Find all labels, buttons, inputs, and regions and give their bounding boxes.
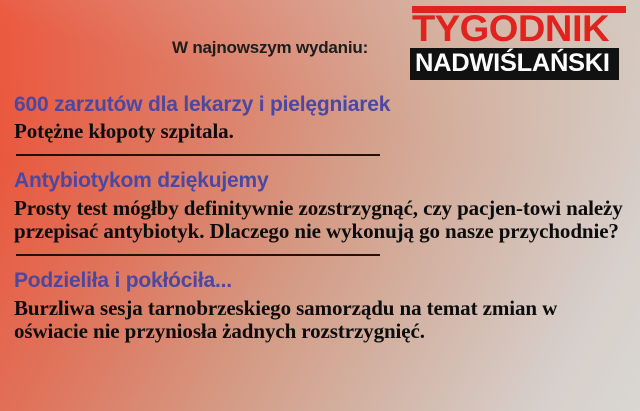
article-teaser-list: 600 zarzutów dla lekarzy i pielęgniarek … <box>14 92 630 343</box>
article-lead: Burzliwa sesja tarnobrzeskiego samorządu… <box>14 297 630 343</box>
logo-title-tygodnik: TYGODNIK <box>412 12 634 46</box>
article-lead: Prosty test mógłby definitywnie zozstrzy… <box>14 197 630 243</box>
issue-kicker-text: W najnowszym wydaniu: <box>172 38 368 58</box>
article-teaser[interactable]: Podzieliła i pokłóciła... Burzliwa sesja… <box>14 268 630 343</box>
logo-title-nadwislanski: NADWIŚLAŃSKI <box>415 51 619 76</box>
article-title[interactable]: Antybiotykom dziękujemy <box>14 168 630 193</box>
article-title[interactable]: 600 zarzutów dla lekarzy i pielęgniarek <box>14 92 630 117</box>
masthead-logo[interactable]: TYGODNIK NADWIŚLAŃSKI <box>410 6 628 80</box>
newspaper-promo-banner: TYGODNIK NADWIŚLAŃSKI W najnowszym wydan… <box>0 0 640 411</box>
article-divider <box>16 154 380 156</box>
article-title[interactable]: Podzieliła i pokłóciła... <box>14 268 630 293</box>
article-lead: Potężne kłopoty szpitala. <box>14 120 630 143</box>
article-teaser[interactable]: Antybiotykom dziękujemy Prosty test mógł… <box>14 168 630 243</box>
article-teaser[interactable]: 600 zarzutów dla lekarzy i pielęgniarek … <box>14 92 630 143</box>
logo-black-bar: NADWIŚLAŃSKI <box>410 48 619 80</box>
article-divider <box>16 254 380 256</box>
